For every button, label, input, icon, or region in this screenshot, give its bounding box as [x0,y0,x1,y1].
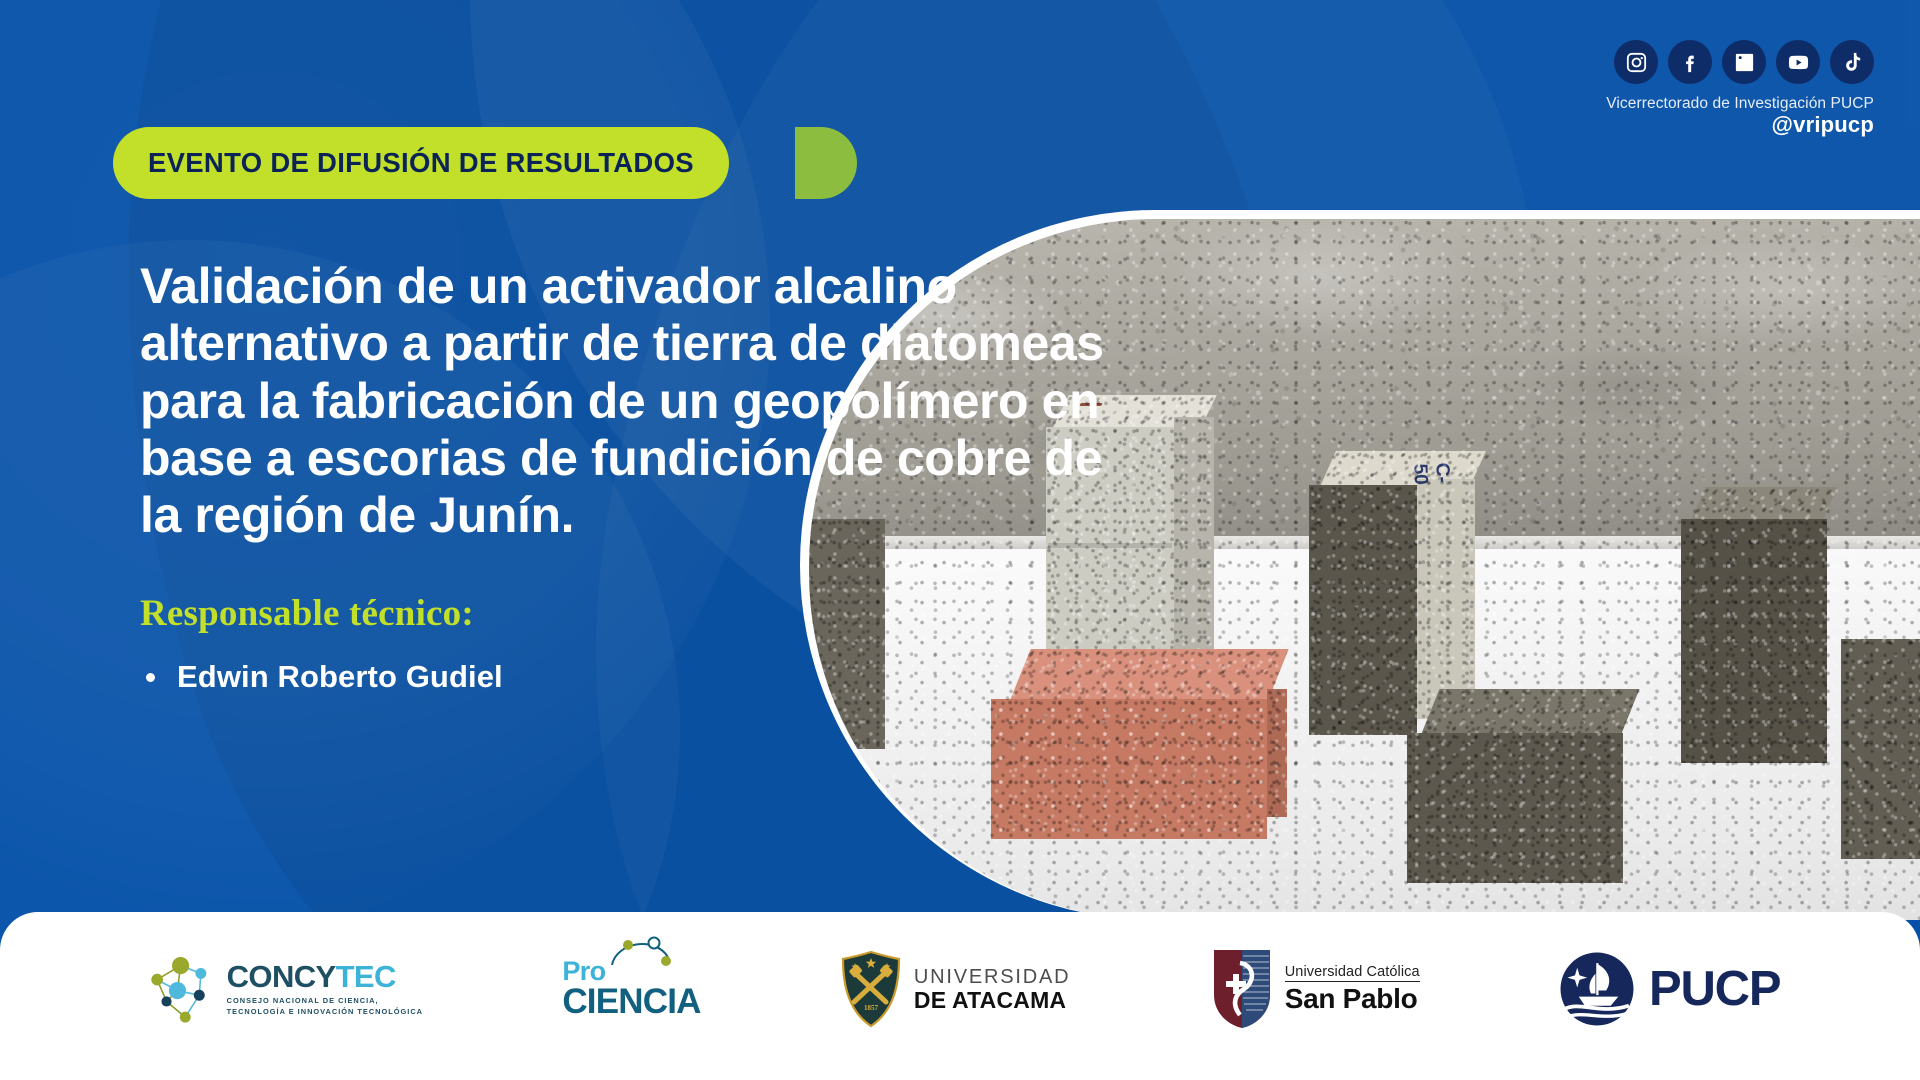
logo-concytec: CONCYTEC CONSEJO NACIONAL DE CIENCIA, TE… [140,950,423,1028]
pucp-ship-icon [1559,951,1635,1027]
responsible-list: Edwin Roberto Gudiel [140,659,1140,695]
partner-logo-footer: CONCYTEC CONSEJO NACIONAL DE CIENCIA, TE… [0,912,1920,1080]
logo-universidad-catolica-san-pablo: Universidad Católica San Pablo [1210,947,1420,1031]
vri-org-line: Vicerrectorado de Investigación PUCP [1606,95,1874,113]
social-cluster: Vicerrectorado de Investigación PUCP @vr… [1606,40,1874,138]
instagram-icon [1625,51,1648,74]
vri-handle: @vripucp [1606,113,1874,138]
concytec-word-part1: CONCY [227,959,336,994]
responsible-label: Responsable técnico: [140,592,1140,635]
social-link-linkedin[interactable] [1722,40,1766,84]
atacama-line2: DE ATACAMA [914,989,1071,1012]
social-icon-row [1606,40,1874,84]
san-pablo-shield-icon [1210,947,1274,1031]
san-pablo-line1: Universidad Católica [1285,965,1420,983]
badge-accent-half-circle [795,127,857,199]
badge-pill: EVENTO DE DIFUSIÓN DE RESULTADOS [113,127,729,199]
prociencia-word-part2: CIENCIA [562,985,700,1019]
atacama-shield-icon: 1857 [840,950,902,1028]
logo-prociencia: Pro CIENCIA [562,959,700,1019]
youtube-icon [1787,51,1810,74]
responsible-name: Edwin Roberto Gudiel [177,659,503,695]
san-pablo-line2: San Pablo [1285,985,1420,1013]
social-link-instagram[interactable] [1614,40,1658,84]
photo-sample-dark-right [1681,487,1841,777]
svg-text:1857: 1857 [864,1004,879,1012]
tiktok-icon [1841,51,1864,74]
main-content: Validación de un activador alcalino alte… [140,258,1140,695]
logo-universidad-de-atacama: 1857 UNIVERSIDAD DE ATACAMA [840,950,1071,1028]
project-title: Validación de un activador alcalino alte… [140,258,1140,544]
badge-label: EVENTO DE DIFUSIÓN DE RESULTADOS [148,147,694,179]
concytec-tagline-line2: TECNOLOGÍA E INNOVACIÓN TECNOLÓGICA [227,1007,423,1018]
photo-sample-dark-slag: C-50 [1309,451,1489,751]
atacama-line1: UNIVERSIDAD [914,967,1071,987]
prociencia-arc-icon [602,935,694,971]
pucp-wordmark: PUCP [1649,961,1780,1017]
list-item: Edwin Roberto Gudiel [140,659,1140,695]
photo-sample-edge-right [1841,639,1920,869]
social-link-tiktok[interactable] [1830,40,1874,84]
event-badge: EVENTO DE DIFUSIÓN DE RESULTADOS [113,127,729,199]
concytec-network-icon [140,950,218,1028]
social-link-youtube[interactable] [1776,40,1820,84]
slide-root: Vicerrectorado de Investigación PUCP @vr… [0,0,1920,1080]
social-link-facebook[interactable] [1668,40,1712,84]
linkedin-icon [1733,51,1756,74]
logo-pucp: PUCP [1559,951,1780,1027]
facebook-icon [1679,51,1702,74]
concytec-tagline-line1: CONSEJO NACIONAL DE CIENCIA, [227,996,423,1007]
bullet-icon [146,673,155,682]
photo-sample-dark-front [1407,689,1643,889]
concytec-word-part2: TEC [336,959,396,994]
